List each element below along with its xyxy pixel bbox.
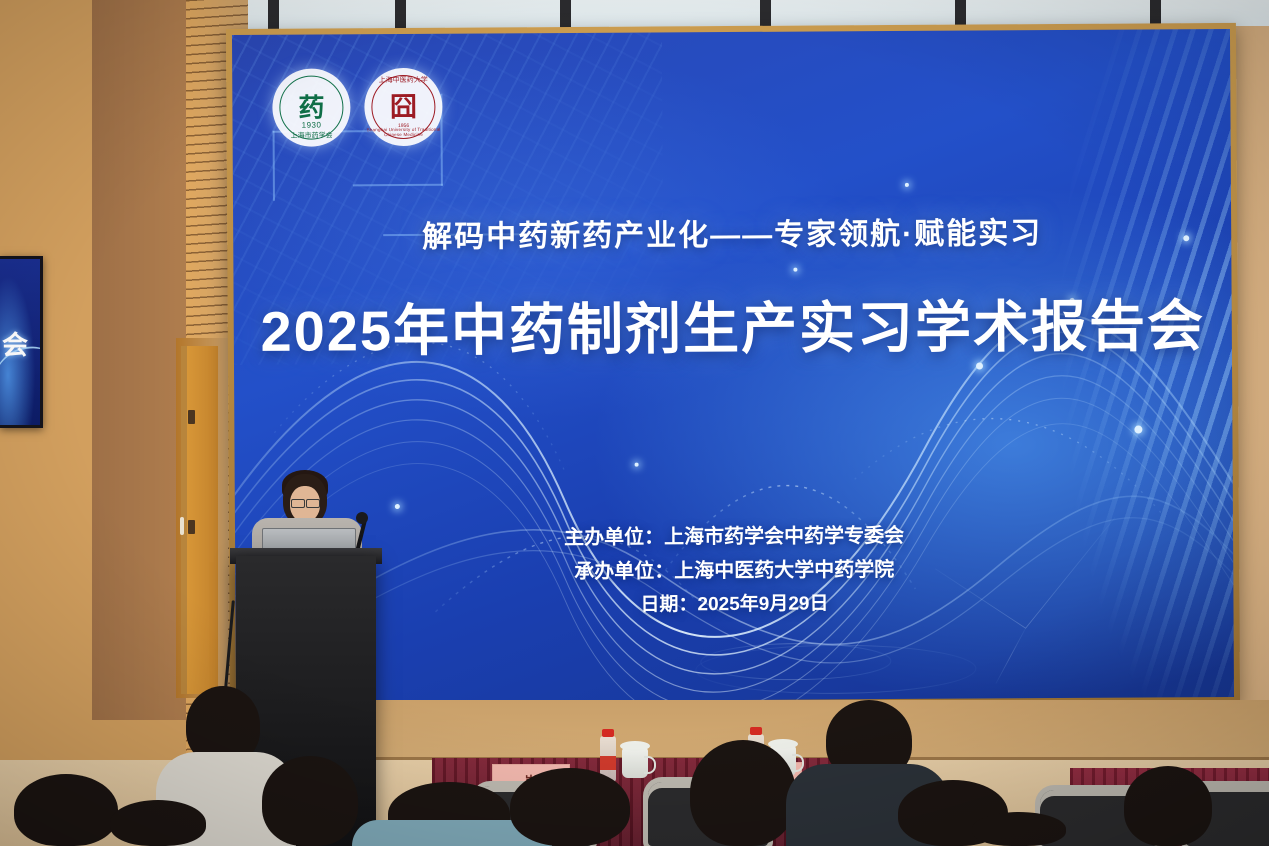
slide-footer-line-date: 日期：2025年9月29日 — [235, 585, 1233, 625]
shanghai-pharmaceutical-association-logo: 药 1930 上海市药学会 — [272, 68, 350, 146]
audience-head — [14, 774, 118, 846]
logo-arc-text: 上海市药学会 — [273, 130, 351, 140]
projection-screen: 药 1930 上海市药学会 上海中医药大学 囧 1956 Shanghai Un… — [232, 29, 1234, 703]
audience-head — [1124, 766, 1212, 846]
logo-arc-text-top: 上海中医药大学 — [364, 75, 442, 85]
audience-head — [510, 768, 630, 846]
shanghai-university-tcm-logo: 上海中医药大学 囧 1956 Shanghai University of Tr… — [364, 68, 442, 146]
door-hinge-icon — [188, 520, 195, 534]
audience-head — [262, 756, 358, 846]
audience-head — [690, 740, 796, 846]
audience-head — [110, 800, 206, 846]
side-monitor-text: 会 — [2, 325, 28, 362]
slide-logos: 药 1930 上海市药学会 上海中医药大学 囧 1956 Shanghai Un… — [272, 68, 442, 147]
logo-year: 1930 — [272, 120, 350, 129]
speaker-glasses-icon — [306, 499, 320, 508]
door-handle-icon[interactable] — [180, 517, 184, 535]
slide-footer: 主办单位：上海市药学会中药学专委会 承办单位：上海中医药大学中药学院 日期：20… — [235, 517, 1234, 625]
tea-cup — [622, 748, 648, 778]
speaker-glasses-icon — [291, 499, 305, 508]
side-monitor: 会 — [0, 256, 43, 428]
microphone-icon — [356, 512, 368, 524]
logo-arc-text-bottom: Shanghai University of Traditional Chine… — [365, 127, 443, 137]
lecture-hall-photo: 会 — [0, 0, 1269, 846]
slide-subtitle: 解码中药新药产业化——专家领航·赋能实习 — [233, 207, 1231, 257]
audience-head — [972, 812, 1066, 846]
slide-title: 2025年中药制剂生产实习学术报告会 — [234, 281, 1232, 368]
door-hinge-icon — [188, 410, 195, 424]
